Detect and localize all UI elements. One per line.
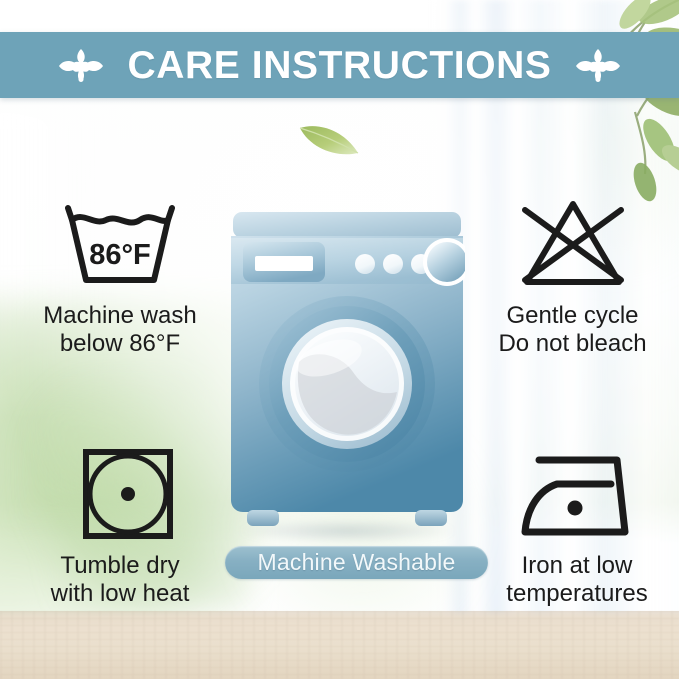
care-instructions-card: CARE INSTRUCTIONS 86°F Machine wash belo… xyxy=(0,0,679,679)
indicator-light xyxy=(355,254,375,274)
page-title: CARE INSTRUCTIONS xyxy=(127,46,551,85)
care-symbol-caption: Gentle cycle Do not bleach xyxy=(498,302,646,358)
wash-tub-icon: 86°F xyxy=(56,196,184,292)
washing-machine-illustration xyxy=(229,212,465,532)
care-symbol-tumble-dry: Tumble dry with low heat xyxy=(12,446,228,608)
iron-one-dot-icon xyxy=(513,446,641,542)
care-symbol-caption: Tumble dry with low heat xyxy=(51,552,190,608)
detergent-drawer-slot xyxy=(255,256,313,271)
indicator-light xyxy=(383,254,403,274)
tumble-dry-low-icon xyxy=(56,446,184,542)
machine-foot xyxy=(247,510,279,526)
floating-green-leaf-icon xyxy=(296,120,362,160)
fleur-de-lis-right-icon xyxy=(574,45,622,85)
care-symbol-do-not-bleach: Gentle cycle Do not bleach xyxy=(470,196,675,358)
machine-foot xyxy=(415,510,447,526)
care-symbol-caption: Machine wash below 86°F xyxy=(43,302,196,358)
triangle-crossed-out-icon xyxy=(509,196,637,292)
machine-top-lid xyxy=(233,212,461,238)
wood-table-grain xyxy=(0,611,679,679)
care-symbol-iron-low: Iron at low temperatures xyxy=(478,446,676,608)
machine-washable-badge: Machine Washable xyxy=(225,546,488,579)
header-banner: CARE INSTRUCTIONS xyxy=(0,32,679,98)
care-symbol-caption: Iron at low temperatures xyxy=(506,552,647,608)
wash-temperature-value: 86°F xyxy=(89,239,151,271)
machine-washable-badge-label: Machine Washable xyxy=(258,551,456,574)
care-symbol-machine-wash: 86°F Machine wash below 86°F xyxy=(12,196,228,358)
fleur-de-lis-left-icon xyxy=(57,45,105,85)
